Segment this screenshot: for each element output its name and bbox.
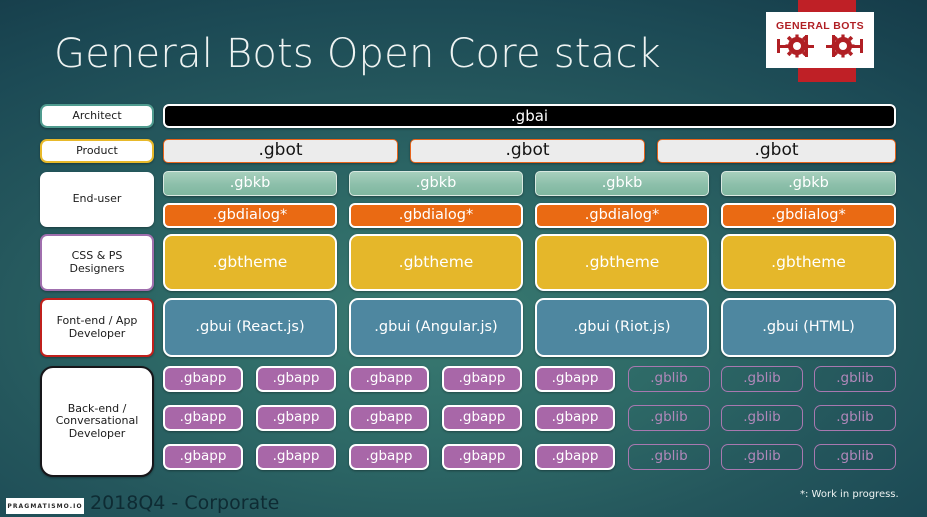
stack-box-gblib: .gblib [628,366,710,392]
stack-box-gbtheme: .gbtheme [163,234,337,291]
stack-box-gbapp: .gbapp [442,405,522,431]
logo-wordmark: GENERAL BOTS [776,21,864,32]
deck-label: 2018Q4 - Corporate [90,492,279,514]
stack-box-gbui-html: .gbui (HTML) [721,298,896,357]
stack-box-gbapp: .gbapp [256,444,336,470]
stack-box-gbapp: .gbapp [163,444,243,470]
stack-box-gbot: .gbot [657,139,896,163]
stack-box-gbui-react: .gbui (React.js) [163,298,337,357]
stack-box-gbtheme: .gbtheme [349,234,523,291]
stack-box-gblib: .gblib [628,405,710,431]
stack-box-gbdialog: .gbdialog* [163,203,337,228]
page-title: General Bots Open Core stack [54,33,661,75]
pragmatismo-logo-text: PRAGMATISMO.IO [7,503,82,510]
stack-box-gblib: .gblib [814,405,896,431]
stack-box-gbapp: .gbapp [163,405,243,431]
role-label-end-user: End-user [40,172,154,227]
role-label-architect: Architect [40,104,154,128]
stack-box-gbtheme: .gbtheme [535,234,709,291]
stack-box-gbapp: .gbapp [349,366,429,392]
stack-box-gblib: .gblib [814,444,896,470]
stack-box-gblib: .gblib [628,444,710,470]
stack-box-gbapp: .gbapp [442,366,522,392]
general-bots-logo: GENERAL BOTS [766,12,874,68]
stack-box-gbapp: .gbapp [535,405,615,431]
stack-box-gblib: .gblib [721,444,803,470]
two-gears-icon [775,33,865,59]
stack-box-gbdialog: .gbdialog* [349,203,523,228]
stack-box-gbapp: .gbapp [256,366,336,392]
role-label-designers: CSS & PS Designers [40,234,154,291]
role-label-frontend-developer: Font-end / App Developer [40,298,154,357]
stack-box-gbapp: .gbapp [535,444,615,470]
stack-box-gbot: .gbot [163,139,398,163]
stack-box-gbdialog: .gbdialog* [535,203,709,228]
stack-box-gblib: .gblib [721,405,803,431]
work-in-progress-note: *: Work in progress. [800,489,899,500]
stack-box-gbtheme: .gbtheme [721,234,896,291]
stack-box-gblib: .gblib [814,366,896,392]
role-label-product: Product [40,139,154,163]
stack-box-gblib: .gblib [721,366,803,392]
stack-box-gbui-angular: .gbui (Angular.js) [349,298,523,357]
stack-box-gbapp: .gbapp [535,366,615,392]
stack-box-gbui-riot: .gbui (Riot.js) [535,298,709,357]
stack-box-gbdialog: .gbdialog* [721,203,896,228]
stack-box-gbapp: .gbapp [349,444,429,470]
stack-box-gbkb: .gbkb [535,171,709,196]
slide-canvas: GENERAL BOTS [0,0,927,517]
stack-box-gbapp: .gbapp [349,405,429,431]
stack-box-gbkb: .gbkb [163,171,337,196]
stack-box-gbkb: .gbkb [721,171,896,196]
role-label-backend-developer: Back-end / Conversational Developer [40,366,154,477]
pragmatismo-logo: PRAGMATISMO.IO [6,498,84,514]
stack-box-gbot: .gbot [410,139,645,163]
stack-box-gbapp: .gbapp [163,366,243,392]
stack-box-gbai: ​.gbai [163,104,896,128]
stack-box-gbapp: .gbapp [442,444,522,470]
stack-box-gbapp: .gbapp [256,405,336,431]
stack-box-gbkb: .gbkb [349,171,523,196]
